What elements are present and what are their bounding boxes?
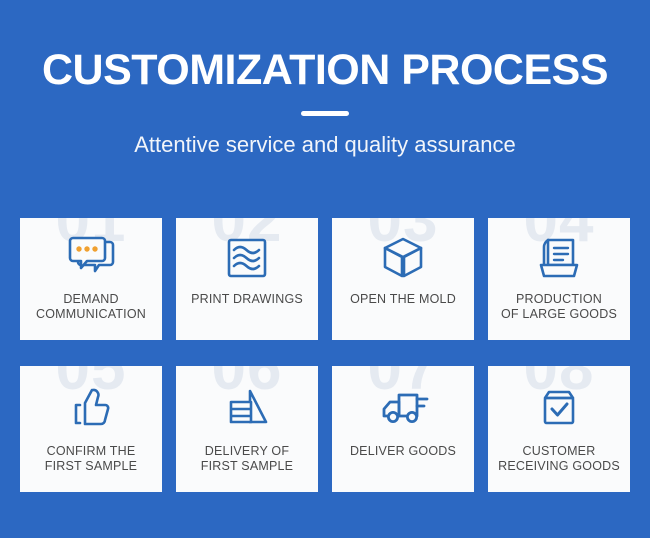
wave-drawing-icon — [221, 234, 273, 282]
thumbs-up-icon — [65, 384, 117, 432]
chat-bubbles-icon — [65, 234, 117, 282]
delivery-truck-icon — [377, 384, 429, 432]
title-divider — [301, 111, 349, 116]
card-label: CUSTOMER RECEIVING GOODS — [494, 444, 624, 474]
card-label: DEMAND COMMUNICATION — [32, 292, 150, 322]
card-label: PRINT DRAWINGS — [187, 292, 307, 307]
page-subtitle: Attentive service and quality assurance — [0, 132, 650, 158]
process-card-deliver-goods[interactable]: 07 DELIVER GOODS — [332, 366, 474, 492]
cube-icon — [377, 234, 429, 282]
process-card-production-of-large-goods[interactable]: 04 PRODUCTION OF LARGE GOODS — [488, 218, 630, 340]
process-card-print-drawings[interactable]: 02 PRINT DRAWINGS — [176, 218, 318, 340]
process-card-open-the-mold[interactable]: 03 OPEN THE MOLD — [332, 218, 474, 340]
customization-process-infographic: CUSTOMIZATION PROCESS Attentive service … — [0, 0, 650, 538]
card-label: OPEN THE MOLD — [346, 292, 460, 307]
card-label: DELIVER GOODS — [346, 444, 460, 459]
stacked-boxes-icon — [221, 384, 273, 432]
process-card-customer-receiving-goods[interactable]: 08 CUSTOMER RECEIVING GOODS — [488, 366, 630, 492]
card-label: CONFIRM THE FIRST SAMPLE — [41, 444, 141, 474]
card-label: DELIVERY OF FIRST SAMPLE — [197, 444, 297, 474]
process-card-confirm-the-first-sample[interactable]: 05 CONFIRM THE FIRST SAMPLE — [20, 366, 162, 492]
process-cards-grid: 01 DEMAND COMMUNICATION 02 — [20, 218, 630, 492]
document-tray-icon — [533, 234, 585, 282]
box-check-icon — [533, 384, 585, 432]
card-label: PRODUCTION OF LARGE GOODS — [497, 292, 621, 322]
page-title: CUSTOMIZATION PROCESS — [0, 47, 650, 93]
process-card-demand-communication[interactable]: 01 DEMAND COMMUNICATION — [20, 218, 162, 340]
header: CUSTOMIZATION PROCESS Attentive service … — [0, 0, 650, 158]
process-card-delivery-of-first-sample[interactable]: 06 DELIVERY OF FIRST SAMPLE — [176, 366, 318, 492]
